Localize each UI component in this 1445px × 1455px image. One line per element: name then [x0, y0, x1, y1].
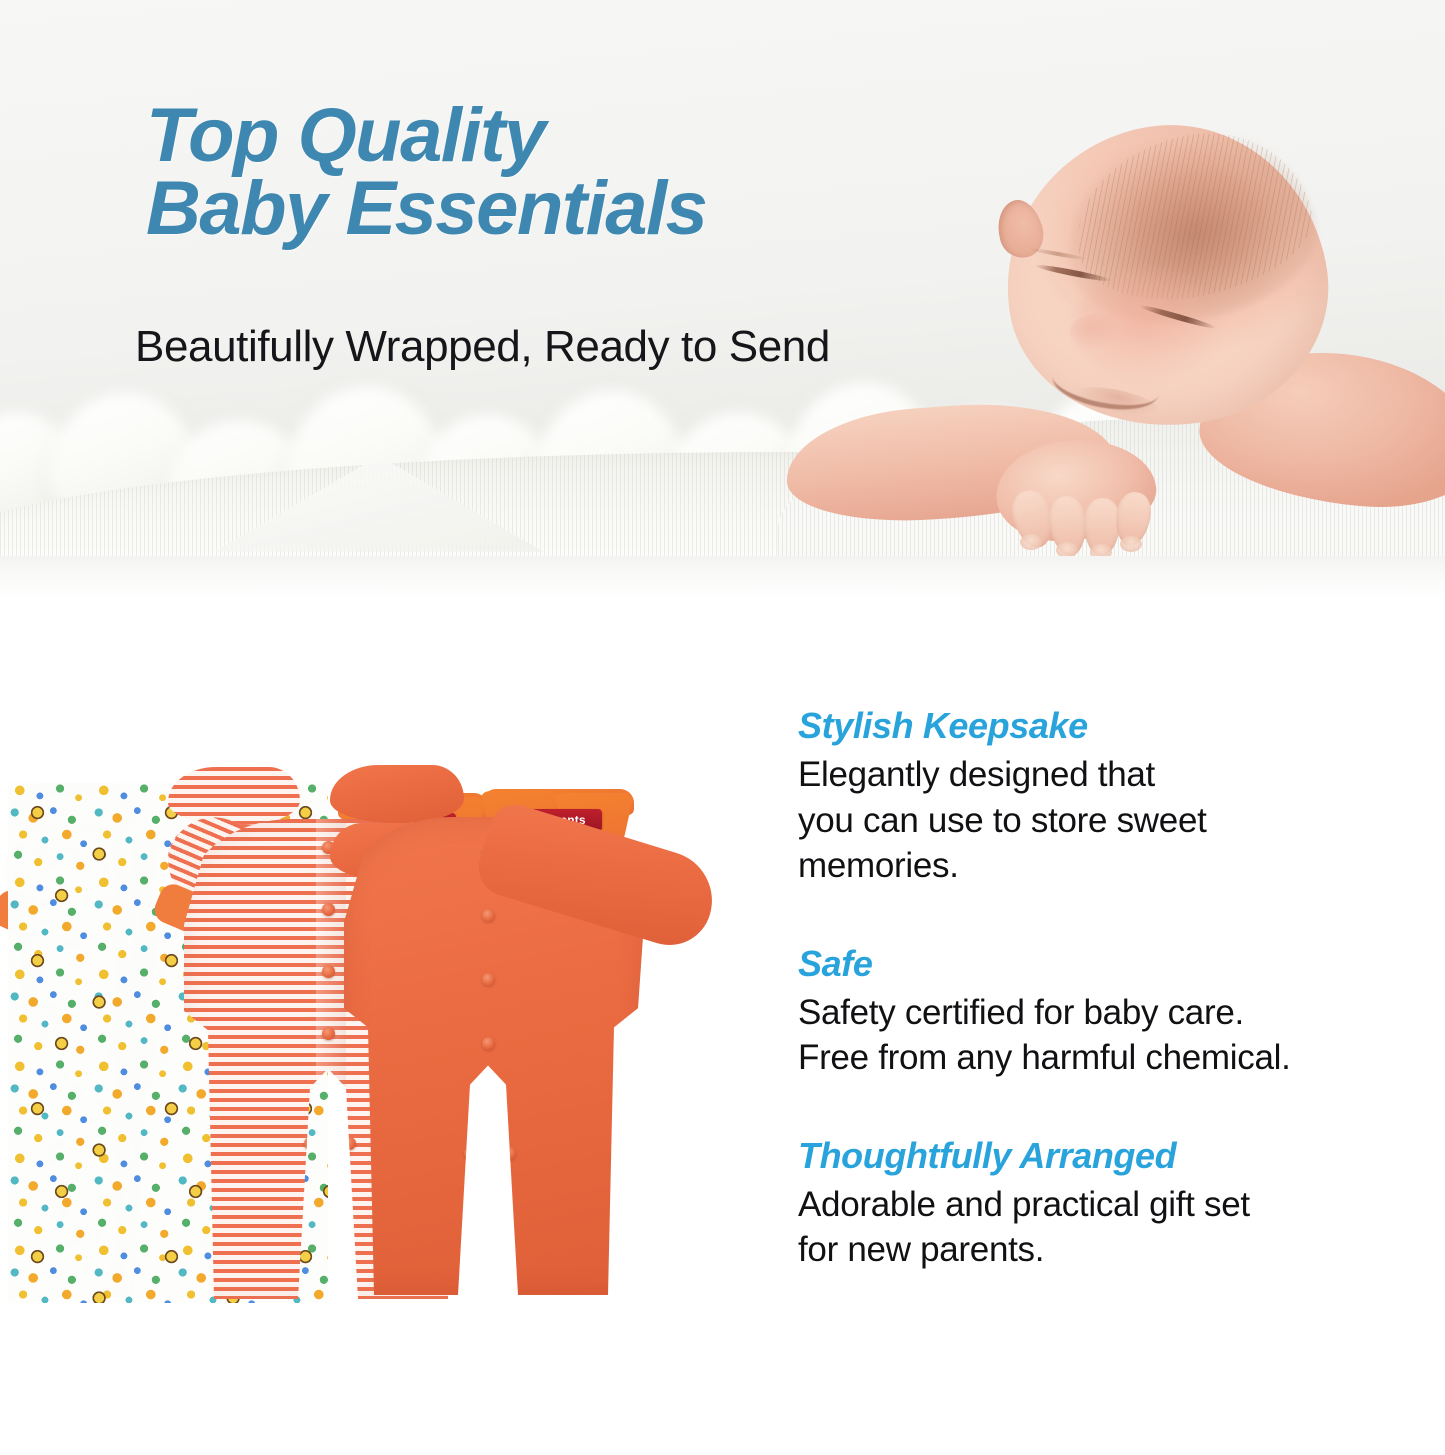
foot-left [168, 767, 300, 825]
list-item: VPàrents [330, 765, 670, 1305]
romper-group-image: VPàrents [0, 755, 800, 1455]
feature-body: Safety certified for baby care. Free fro… [798, 990, 1438, 1081]
hero-headline: Top Quality Baby Essentials [146, 100, 706, 246]
hero-banner: Top Quality Baby Essentials Beautifully … [0, 0, 1445, 600]
feature-stylish-keepsake: Stylish Keepsake Elegantly designed that… [798, 705, 1438, 889]
snap-button [482, 973, 495, 986]
feature-title: Safe [798, 943, 1438, 985]
feature-safe: Safe Safety certified for baby care. Fre… [798, 943, 1438, 1081]
snap-button [482, 1101, 495, 1114]
feature-title: Stylish Keepsake [798, 705, 1438, 747]
baby-fingernail [1120, 536, 1142, 552]
snap-button [464, 1147, 477, 1160]
hero-subheadline: Beautifully Wrapped, Ready to Send [135, 322, 830, 372]
feature-thoughtfully-arranged: Thoughtfully Arranged Adorable and pract… [798, 1135, 1438, 1273]
foot-left [330, 765, 464, 823]
feature-title: Thoughtfully Arranged [798, 1135, 1438, 1177]
product-feature-section: VPàrents [0, 600, 1445, 1445]
lion-face-motifs [8, 839, 140, 895]
snap-button [304, 1137, 317, 1150]
snap-button [503, 1147, 516, 1160]
feature-body: Adorable and practical gift set for new … [798, 1182, 1438, 1273]
baby-nose [1070, 314, 1122, 350]
baby-fingernail [1020, 534, 1042, 550]
feature-list: Stylish Keepsake Elegantly designed that… [798, 705, 1438, 1327]
feature-body: Elegantly designed that you can use to s… [798, 752, 1438, 889]
foot-right [8, 839, 140, 895]
baby-photo [838, 118, 1445, 588]
snap-button [482, 909, 495, 922]
hero-bottom-fade [0, 556, 1445, 600]
snap-button [482, 1037, 495, 1050]
